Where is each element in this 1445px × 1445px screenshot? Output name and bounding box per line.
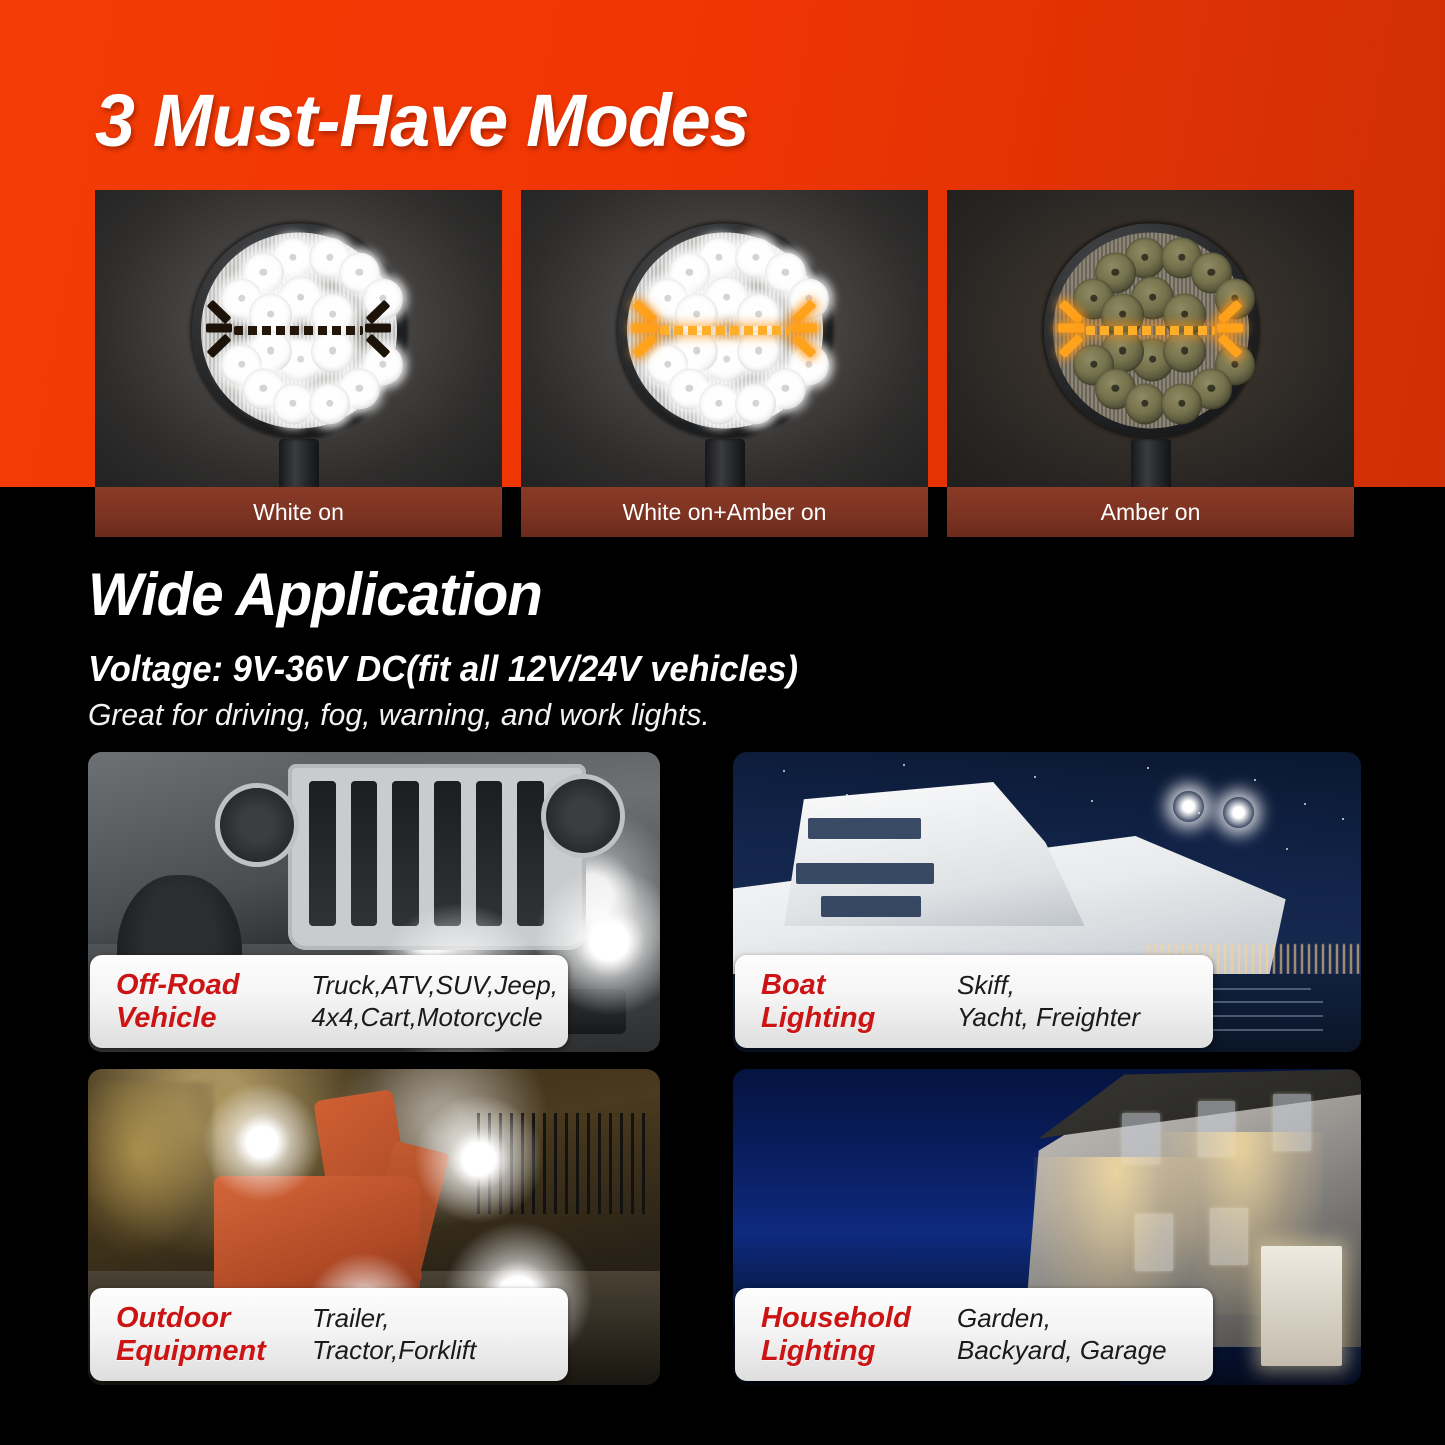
application-card-boat-lighting[interactable]: Boat Lighting Skiff, Yacht, Freighter [733, 752, 1361, 1052]
label-pill-boat-lighting: Boat Lighting Skiff, Yacht, Freighter [735, 955, 1213, 1048]
application-card-outdoor-equipment[interactable]: Outdoor Equipment Trailer, Tractor,Forkl… [88, 1069, 660, 1385]
pill-title-off-road-vehicle: Off-Road Vehicle [116, 969, 311, 1034]
mode-panel-white-and-amber-on[interactable] [521, 190, 928, 487]
lamp-stem-icon [1131, 439, 1171, 487]
pill-desc-off-road-vehicle: Truck,ATV,SUV,Jeep, 4x4,Cart,Motorcycle [311, 970, 558, 1032]
amber-arrow-strip-on [632, 299, 816, 361]
application-card-household-lighting[interactable]: Household Lighting Garden, Backyard, Gar… [733, 1069, 1361, 1385]
pill-desc-boat-lighting: Skiff, Yacht, Freighter [957, 970, 1140, 1032]
voltage-spec-text: Voltage: 9V-36V DC(fit all 12V/24V vehic… [88, 648, 798, 690]
led-lamp-amber-on [1044, 223, 1258, 437]
mode-captions-row: White on White on+Amber on Amber on [95, 487, 1355, 537]
mode-panel-white-on[interactable] [95, 190, 502, 487]
section-title-wide-application: Wide Application [88, 560, 542, 629]
lamp-stem-icon [705, 439, 745, 487]
page-title: 3 Must-Have Modes [95, 78, 749, 163]
pill-title-household-lighting: Household Lighting [761, 1302, 957, 1367]
label-pill-household-lighting: Household Lighting Garden, Backyard, Gar… [735, 1288, 1213, 1381]
application-card-off-road-vehicle[interactable]: Off-Road Vehicle Truck,ATV,SUV,Jeep, 4x4… [88, 752, 660, 1052]
pill-desc-outdoor-equipment: Trailer, Tractor,Forklift [312, 1303, 476, 1365]
led-lamp-white-on [192, 223, 406, 437]
amber-arrow-strip-on [1058, 299, 1242, 361]
mode-panel-amber-on[interactable] [947, 190, 1354, 487]
application-subtitle-text: Great for driving, fog, warning, and wor… [88, 697, 710, 733]
modes-row [95, 190, 1355, 487]
mode-caption-white-amber-on: White on+Amber on [521, 487, 928, 537]
pill-title-outdoor-equipment: Outdoor Equipment [116, 1302, 312, 1367]
label-pill-outdoor-equipment: Outdoor Equipment Trailer, Tractor,Forkl… [90, 1288, 568, 1381]
application-grid: Off-Road Vehicle Truck,ATV,SUV,Jeep, 4x4… [88, 752, 1360, 1389]
pill-desc-household-lighting: Garden, Backyard, Garage [957, 1303, 1167, 1365]
lamp-stem-icon [279, 439, 319, 487]
mode-caption-white-on: White on [95, 487, 502, 537]
led-lamp-white-and-amber-on [618, 223, 832, 437]
pill-title-boat-lighting: Boat Lighting [761, 969, 957, 1034]
mode-caption-amber-on: Amber on [947, 487, 1354, 537]
label-pill-off-road-vehicle: Off-Road Vehicle Truck,ATV,SUV,Jeep, 4x4… [90, 955, 568, 1048]
amber-arrow-strip-off [206, 299, 390, 361]
